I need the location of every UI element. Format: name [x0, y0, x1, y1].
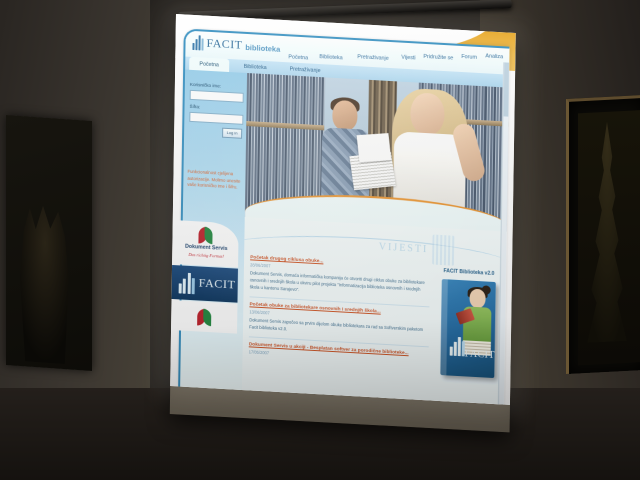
- box-logo-bars-icon: [450, 337, 465, 357]
- nav-item-5[interactable]: Forum: [461, 54, 477, 61]
- logo-suffix: biblioteka: [245, 43, 280, 55]
- website: FACIT biblioteka Početna Biblioteka Pret…: [170, 14, 516, 405]
- product-promo[interactable]: FACIT Biblioteka v2.0: [432, 268, 504, 379]
- male-head: [332, 100, 357, 131]
- hero-photo: [245, 73, 509, 232]
- facit-bars-icon: [179, 272, 195, 294]
- news-list: Početak drugog ciklusa obuke... 28/06/20…: [249, 255, 431, 374]
- username-input[interactable]: [190, 90, 244, 103]
- artwork-silhouette: [12, 200, 78, 365]
- nav-item-1[interactable]: Biblioteka: [319, 54, 342, 61]
- sponsor-dokument-servis-2[interactable]: [171, 300, 237, 334]
- site-logo[interactable]: FACIT biblioteka: [192, 35, 280, 55]
- female-head: [410, 92, 445, 136]
- sponsor-logo-column: Dokument Servis Das richtig Format! FACI…: [171, 220, 239, 335]
- password-input[interactable]: [189, 112, 243, 125]
- projected-webpage: FACIT biblioteka Početna Biblioteka Pret…: [170, 14, 516, 405]
- news-item[interactable]: Početak drugog ciklusa obuke... 28/06/20…: [250, 255, 431, 307]
- login-button[interactable]: Log in: [222, 128, 242, 139]
- nav-item-0[interactable]: Početna: [288, 54, 308, 61]
- book-bars-icon: [192, 35, 203, 51]
- browser-content-shell: FACIT biblioteka Početna Biblioteka Pret…: [178, 28, 509, 405]
- room-scene: FACIT biblioteka Početna Biblioteka Pret…: [0, 0, 640, 480]
- sponsor-dokument-servis[interactable]: Dokument Servis Das richtig Format!: [172, 220, 239, 268]
- news-item[interactable]: Početak obuke za bibliotekare osnovnih i…: [249, 302, 429, 347]
- books-watermark-icon: [432, 234, 454, 265]
- box-woman-head: [469, 289, 485, 309]
- dokument-servis-leaf-icon: [197, 308, 212, 326]
- logo-wordmark: FACIT: [206, 36, 242, 53]
- held-document: [357, 133, 392, 162]
- sponsor-name: FACIT: [199, 275, 236, 292]
- promo-title: FACIT Biblioteka v2.0: [434, 268, 504, 278]
- scrollbar-thumb[interactable]: [503, 62, 509, 116]
- password-label: Šifra:: [190, 104, 201, 110]
- framed-artwork-left: [6, 115, 92, 371]
- login-note: Funkcionalnost cjelijena autorizacije. M…: [187, 169, 243, 192]
- box-illustration-woman: [462, 288, 493, 348]
- nav-item-3[interactable]: Vijesti: [401, 55, 415, 62]
- nav-item-4[interactable]: Pridružite se: [423, 54, 453, 62]
- news-item[interactable]: Dokument Servis u akciji - Besplatan sof…: [249, 342, 429, 370]
- nav-item-2[interactable]: Pretraživanje: [357, 54, 389, 62]
- main-content: VIJESTI Početak drugog ciklusa obuke... …: [242, 217, 507, 405]
- nav-item-6[interactable]: Analiza: [485, 53, 503, 60]
- box-spine: [440, 279, 448, 375]
- box-wordmark: FACIT: [465, 348, 495, 361]
- username-label: Korisničko ime:: [190, 82, 221, 89]
- sponsor-slogan: Das richtig Format!: [174, 251, 238, 260]
- sponsor-facit[interactable]: FACIT: [172, 265, 238, 303]
- dokument-servis-leaf-icon: [198, 226, 213, 244]
- product-box: FACIT: [440, 279, 495, 378]
- framed-artwork-right: [566, 95, 640, 374]
